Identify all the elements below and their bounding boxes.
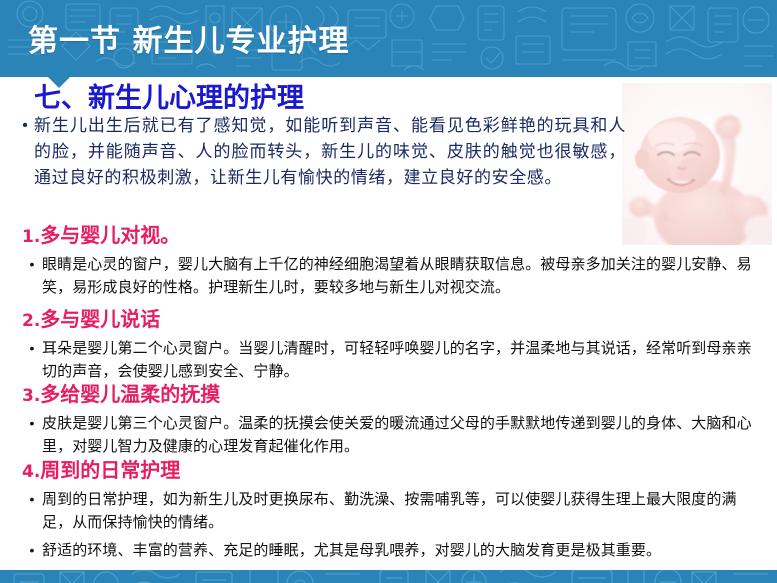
bullet-marker: • [16,113,34,139]
footer-banner [0,570,777,583]
section-2-body-text: 耳朵是婴儿第二个心灵窗户。当婴儿清醒时，可轻轻呼唤婴儿的名字，并温柔地与其说话，… [42,337,762,383]
section-2-paragraph: • 耳朵是婴儿第二个心灵窗户。当婴儿清醒时，可轻轻呼唤婴儿的名字，并温柔地与其说… [22,337,762,383]
section-2-heading: 2.多与婴儿说话 [22,309,160,330]
intro-text: 新生儿出生后就已有了感知觉，如能听到声音、能看见色彩鲜艳的玩具和人的脸，并能随声… [34,113,626,191]
header-banner: 第一节 新生儿专业护理 [0,0,777,77]
section-2-heading-text: 多与婴儿说话 [40,307,160,331]
section-3-heading-text: 多给婴儿温柔的抚摸 [40,382,220,406]
footer-doodle-pattern [0,570,777,583]
section-1-body-text: 眼睛是心灵的窗户，婴儿大脑有上千亿的神经细胞渴望着从眼睛获取信息。被母亲多加关注… [42,253,762,299]
section-3-number: 3. [22,386,40,406]
section-1-paragraph: • 眼睛是心灵的窗户，婴儿大脑有上千亿的神经细胞渴望着从眼睛获取信息。被母亲多加… [22,253,762,299]
section-2-number: 2. [22,311,40,331]
baby-photo [622,83,772,245]
section-3-body-text: 皮肤是婴儿第三个心灵窗户。温柔的抚摸会使关爱的暖流通过父母的手默默地传递到婴儿的… [42,412,762,458]
section-title: 七、新生儿心理的护理 [34,85,304,113]
slide-content: 七、新生儿心理的护理 [0,77,777,570]
section-3-paragraph: • 皮肤是婴儿第三个心灵窗户。温柔的抚摸会使关爱的暖流通过父母的手默默地传递到婴… [22,412,762,458]
section-1-heading-text: 多与婴儿对视。 [40,223,180,247]
page-title: 第一节 新生儿专业护理 [28,27,349,57]
bullet-marker: • [22,488,42,511]
intro-paragraph: • 新生儿出生后就已有了感知觉，如能听到声音、能看见色彩鲜艳的玩具和人的脸，并能… [16,113,626,191]
bullet-marker: • [22,539,42,562]
section-4-number: 4. [22,462,40,482]
section-3-heading: 3.多给婴儿温柔的抚摸 [22,384,220,405]
section-4-heading: 4.周到的日常护理 [22,460,180,481]
section-4-body-text-1: 周到的日常护理，如为新生儿及时更换尿布、勤洗澡、按需哺乳等，可以使婴儿获得生理上… [42,488,762,534]
bullet-marker: • [22,253,42,276]
bullet-marker: • [22,412,42,435]
section-4-paragraph-1: • 周到的日常护理，如为新生儿及时更换尿布、勤洗澡、按需哺乳等，可以使婴儿获得生… [22,488,762,534]
section-4-paragraph-2: • 舒适的环境、丰富的营养、充足的睡眠，尤其是母乳喂养，对婴儿的大脑发育更是极其… [22,539,762,562]
section-4-heading-text: 周到的日常护理 [40,458,180,482]
section-4-body-text-2: 舒适的环境、丰富的营养、充足的睡眠，尤其是母乳喂养，对婴儿的大脑发育更是极其重要… [42,539,762,562]
section-1-heading: 1.多与婴儿对视。 [22,225,180,246]
slide: 第一节 新生儿专业护理 七、新生儿心理的护理 [0,0,777,583]
bullet-marker: • [22,337,42,360]
section-1-number: 1. [22,227,40,247]
